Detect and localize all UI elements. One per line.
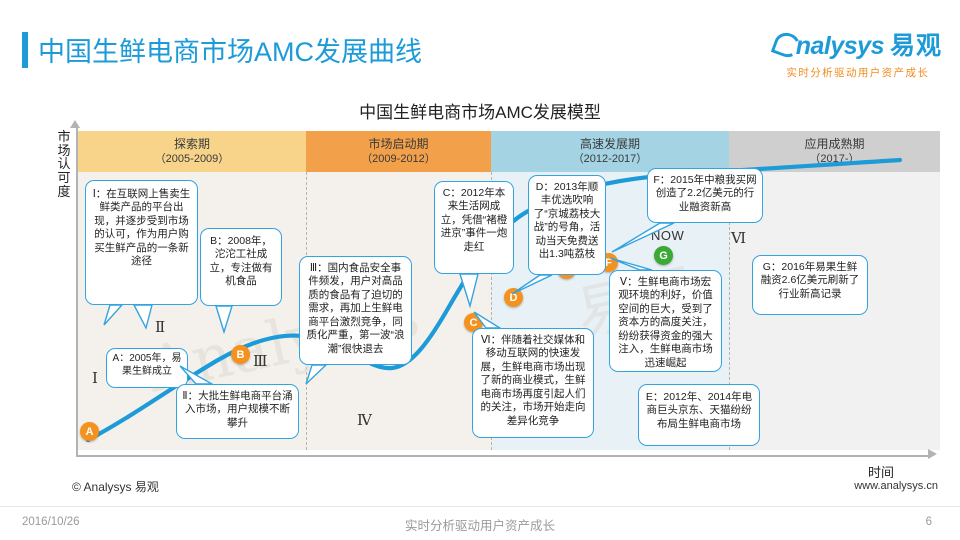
callout-text: A：2005年，易果生鲜成立: [112, 353, 182, 379]
callout-point-a[interactable]: A：2005年，易果生鲜成立: [106, 348, 188, 388]
y-axis-arrow-icon: [70, 120, 80, 128]
phase-name: 市场启动期: [368, 136, 428, 152]
callout-point-f[interactable]: F：2015年中粮我买网创造了2.2亿美元的行业融资新高: [647, 168, 763, 223]
callout-stage-v[interactable]: Ⅴ：生鲜电商市场宏观环境的利好，价值空间的巨大，受到了资本方的高度关注，纷纷获得…: [609, 270, 722, 372]
callout-text: Ⅰ：在互联网上售卖生鲜类产品的平台出现，并逐步受到市场的认可，作为用户购买生鲜产…: [92, 188, 191, 269]
now-label: NOW: [651, 228, 684, 243]
title-text: 中国生鲜电商市场AMC发展曲线: [38, 30, 422, 69]
y-axis-label: 市场认可度: [55, 130, 73, 198]
chart-title: 中国生鲜电商市场AMC发展模型: [0, 98, 960, 123]
callout-point-d[interactable]: D：2013年顺丰优选吹响了“京城荔枝大战”的号角，活动当天免费送出1.3吨荔枝: [528, 175, 606, 275]
callout-text: D：2013年顺丰优选吹响了“京城荔枝大战”的号角，活动当天免费送出1.3吨荔枝: [533, 181, 601, 262]
copyright-text: © Analysys 易观: [72, 478, 159, 495]
phase-name: 应用成熟期: [804, 136, 864, 152]
footer-divider: [0, 506, 960, 507]
marker-d[interactable]: D: [504, 288, 523, 307]
phase-band-maturity: 应用成熟期 （2017-）: [729, 131, 940, 172]
phase-years: （2017-）: [809, 152, 859, 167]
slide-root: 中国生鲜电商市场AMC发展曲线 nalysys易观 实时分析驱动用户资产成长 中…: [0, 0, 960, 540]
stage-numeral-iv: Ⅳ: [357, 411, 372, 430]
stage-numeral-iii: Ⅲ: [253, 352, 267, 371]
phase-band-highgrowth: 高速发展期 （2012-2017）: [491, 131, 729, 172]
phase-band-startup: 市场启动期 （2009-2012）: [306, 131, 491, 172]
stage-numeral-i: Ⅰ: [92, 369, 98, 388]
phase-name: 高速发展期: [580, 136, 640, 152]
marker-a[interactable]: A: [80, 422, 99, 441]
phase-years: （2012-2017）: [573, 152, 648, 167]
callout-point-b[interactable]: B：2008年，沱沱工社成立，专注做有机食品: [200, 228, 282, 306]
callout-text: E：2012年、2014年电商巨头京东、天猫纷纷布局生鲜电商市场: [644, 391, 754, 431]
phase-years: （2005-2009）: [155, 152, 230, 167]
logo-cn-text: 易观: [890, 32, 942, 60]
callout-text: G：2016年易果生鲜融资2.6亿美元刷新了行业新高记录: [758, 261, 862, 301]
phase-band-exploration: 探索期 （2005-2009）: [78, 131, 306, 172]
page-title: 中国生鲜电商市场AMC发展曲线: [22, 30, 422, 69]
marker-g[interactable]: G: [654, 246, 673, 265]
website-text: www.analysys.cn: [854, 480, 938, 492]
callout-text: C：2012年本来生活网成立，凭借“褚橙进京”事件一炮走红: [439, 187, 509, 254]
brand-logo: nalysys易观 实时分析驱动用户资产成长: [774, 26, 942, 80]
marker-b[interactable]: B: [231, 345, 250, 364]
x-axis-line: [76, 455, 929, 457]
callout-stage-vi[interactable]: Ⅵ：伴随着社交媒体和移动互联网的快速发展，生鲜电商市场出现了新的商业模式，生鲜电…: [472, 328, 594, 438]
x-axis-label: 时间: [868, 462, 894, 481]
callout-text: Ⅱ：大批生鲜电商平台涌入市场，用户规模不断攀升: [182, 390, 293, 430]
x-axis-arrow-icon: [928, 449, 937, 459]
stage-numeral-ii: Ⅱ: [155, 318, 165, 337]
logo-main-text: nalysys: [796, 32, 884, 60]
callout-text: Ⅴ：生鲜电商市场宏观环境的利好，价值空间的巨大，受到了资本方的高度关注，纷纷获得…: [615, 276, 716, 370]
phase-name: 探索期: [174, 136, 210, 152]
title-accent-bar: [22, 32, 28, 68]
callout-point-e[interactable]: E：2012年、2014年电商巨头京东、天猫纷纷布局生鲜电商市场: [638, 384, 760, 446]
footer-tagline: 实时分析驱动用户资产成长: [0, 515, 960, 534]
callout-stage-i[interactable]: Ⅰ：在互联网上售卖生鲜类产品的平台出现，并逐步受到市场的认可，作为用户购买生鲜产…: [85, 180, 198, 305]
callout-stage-ii[interactable]: Ⅱ：大批生鲜电商平台涌入市场，用户规模不断攀升: [176, 384, 299, 439]
phase-band: 探索期 （2005-2009） 市场启动期 （2009-2012） 高速发展期 …: [78, 131, 940, 172]
callout-point-c[interactable]: C：2012年本来生活网成立，凭借“褚橙进京”事件一炮走红: [434, 181, 514, 274]
callout-text: F：2015年中粮我买网创造了2.2亿美元的行业融资新高: [653, 174, 757, 214]
callout-text: B：2008年，沱沱工社成立，专注做有机食品: [206, 235, 276, 289]
callout-stage-iii[interactable]: Ⅲ：国内食品安全事件频发，用户对高品质的食品有了迫切的需求，再加上生鲜电商平台激…: [299, 256, 412, 365]
logo-tagline: 实时分析驱动用户资产成长: [774, 65, 942, 80]
stage-numeral-vi: Ⅵ: [731, 229, 746, 248]
callout-text: Ⅵ：伴随着社交媒体和移动互联网的快速发展，生鲜电商市场出现了新的商业模式，生鲜电…: [478, 334, 588, 428]
y-axis-line: [76, 126, 78, 456]
logo-wordmark: nalysys易观: [774, 26, 942, 62]
callout-point-g[interactable]: G：2016年易果生鲜融资2.6亿美元刷新了行业新高记录: [752, 255, 868, 315]
phase-years: （2009-2012）: [361, 152, 436, 167]
callout-text: Ⅲ：国内食品安全事件频发，用户对高品质的食品有了迫切的需求，再加上生鲜电商平台激…: [305, 262, 406, 356]
footer-page-number: 6: [926, 516, 932, 528]
